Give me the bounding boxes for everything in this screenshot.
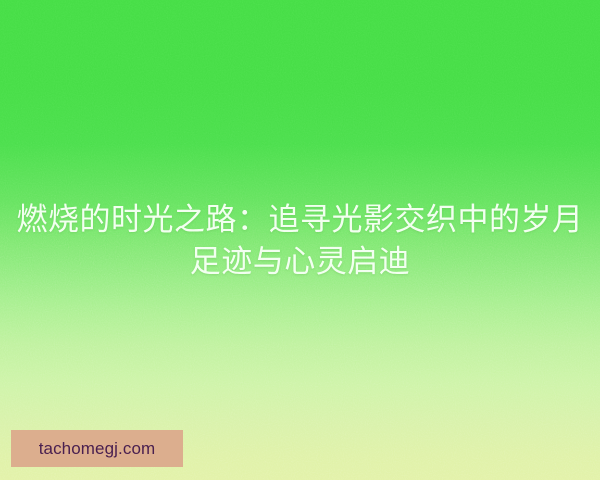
- page-title: 燃烧的时光之路：追寻光影交织中的岁月足迹与心灵启迪: [0, 199, 600, 283]
- watermark-badge: tachomegj.com: [11, 430, 183, 467]
- title-card: 燃烧的时光之路：追寻光影交织中的岁月足迹与心灵启迪 tachomegj.com: [0, 0, 600, 480]
- page-title-text: 燃烧的时光之路：追寻光影交织中的岁月足迹与心灵启迪: [14, 199, 586, 283]
- watermark-label: tachomegj.com: [39, 440, 156, 457]
